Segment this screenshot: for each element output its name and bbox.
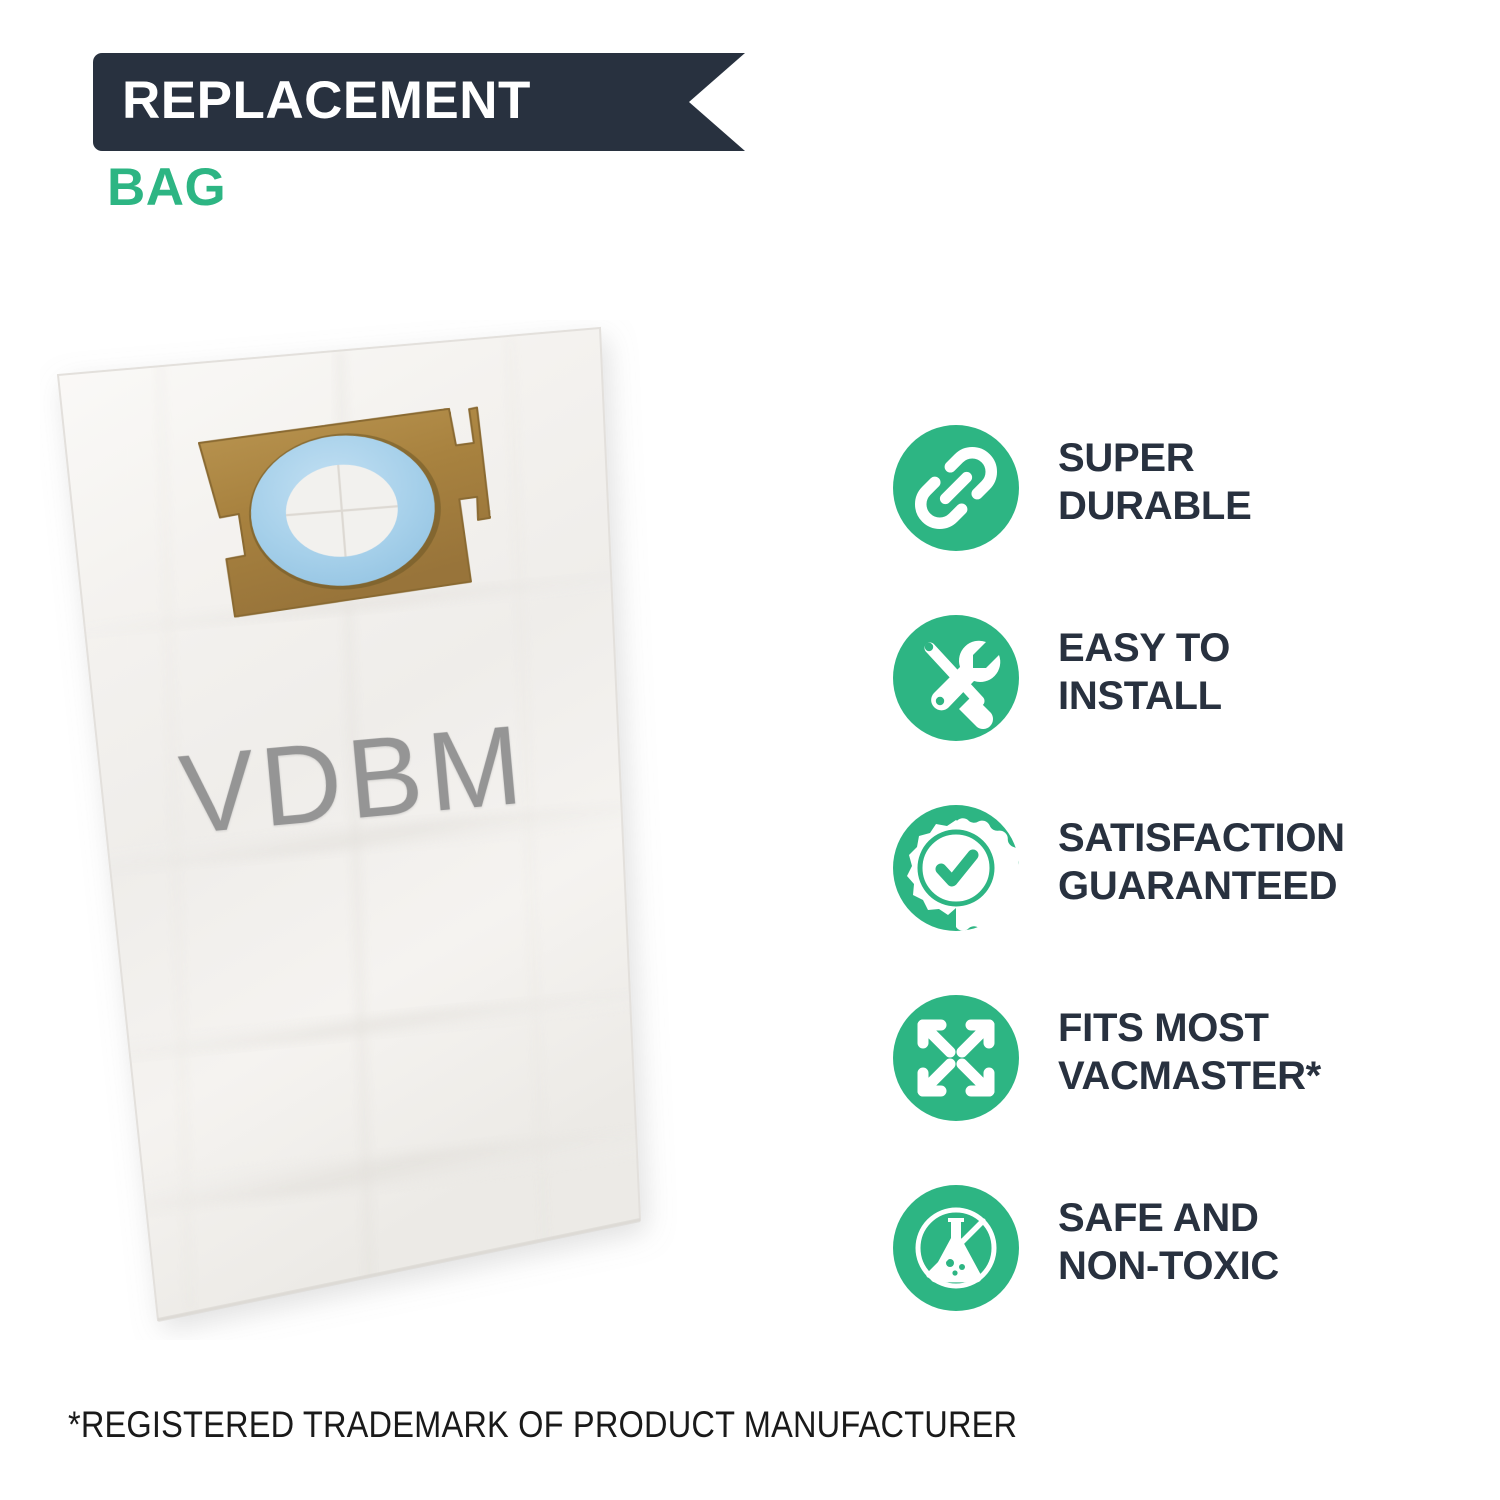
feature-row-easy-to-install: EASY TO INSTALL — [890, 610, 1470, 800]
chain-link-glyph-icon — [893, 425, 1019, 551]
feature-label-super-durable: SUPER DURABLE — [1058, 434, 1251, 530]
feature-line-1: FITS MOST — [1058, 1006, 1269, 1050]
feature-line-2: DURABLE — [1058, 482, 1251, 530]
wrench-screwdriver-glyph-icon — [893, 615, 1019, 741]
no-toxic-flask-icon — [893, 1185, 1019, 1311]
header-block: REPLACEMENT BAG — [93, 53, 753, 223]
feature-row-safe-and-non-toxic: SAFE AND NON-TOXIC — [890, 1180, 1470, 1370]
badge-check-icon — [893, 805, 1019, 931]
feature-row-satisfaction-guaranteed: SATISFACTION GUARANTEED — [890, 800, 1470, 990]
feature-line-2: INSTALL — [1058, 672, 1230, 720]
no-toxic-flask-glyph-icon — [893, 1185, 1019, 1311]
ribbon-title: REPLACEMENT — [122, 70, 531, 132]
expand-arrows-glyph-icon — [893, 995, 1019, 1121]
feature-line-1: SUPER — [1058, 436, 1194, 480]
feature-label-fits-most-vacmaster: FITS MOST VACMASTER* — [1058, 1004, 1321, 1100]
feature-label-easy-to-install: EASY TO INSTALL — [1058, 624, 1230, 720]
replacement-ribbon: REPLACEMENT — [93, 53, 745, 151]
feature-line-2: GUARANTEED — [1058, 862, 1345, 910]
feature-row-fits-most-vacmaster: FITS MOST VACMASTER* — [890, 990, 1470, 1180]
infographic-page: REPLACEMENT BAG — [0, 0, 1500, 1500]
feature-line-2: NON-TOXIC — [1058, 1242, 1279, 1290]
wrench-screwdriver-icon — [893, 615, 1019, 741]
vacuum-bag-image: VDBM — [40, 320, 840, 1340]
header-subtitle: BAG — [107, 157, 226, 219]
chain-link-icon — [893, 425, 1019, 551]
feature-label-satisfaction-guaranteed: SATISFACTION GUARANTEED — [1058, 814, 1345, 910]
feature-line-2: VACMASTER* — [1058, 1052, 1321, 1100]
trademark-footnote: *REGISTERED TRADEMARK OF PRODUCT MANUFAC… — [68, 1404, 1017, 1446]
feature-line-1: SAFE AND — [1058, 1196, 1259, 1240]
feature-line-1: SATISFACTION — [1058, 816, 1345, 860]
feature-line-1: EASY TO — [1058, 626, 1230, 670]
feature-label-safe-and-non-toxic: SAFE AND NON-TOXIC — [1058, 1194, 1279, 1290]
product-photo: VDBM — [40, 320, 840, 1340]
feature-row-super-durable: SUPER DURABLE — [890, 420, 1470, 610]
expand-arrows-icon — [893, 995, 1019, 1121]
feature-list: SUPER DURABLE — [890, 420, 1470, 1370]
badge-check-glyph-icon — [893, 805, 1019, 931]
